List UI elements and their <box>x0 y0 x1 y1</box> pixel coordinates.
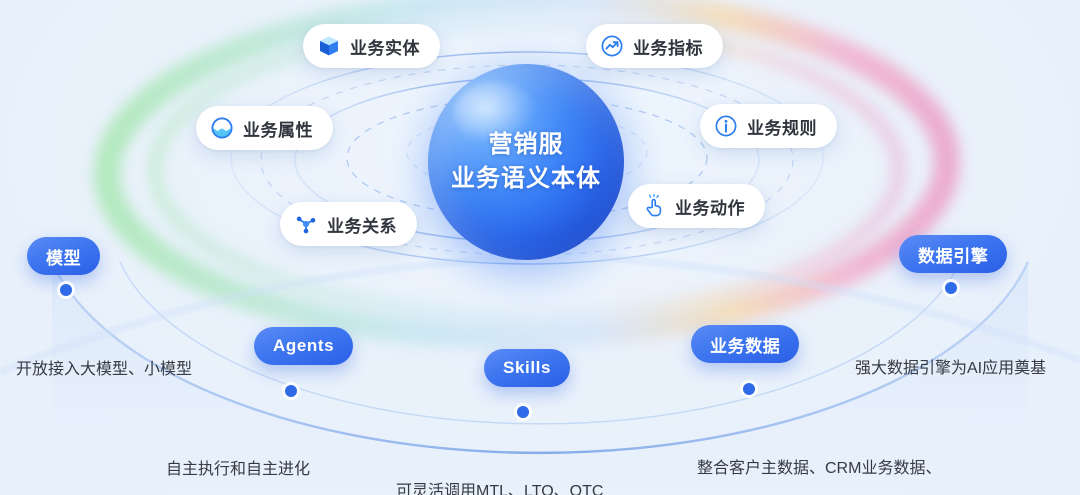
connector-dot-agents <box>285 385 297 397</box>
core-sphere: 营销服 业务语义本体 <box>428 64 624 260</box>
info-icon <box>714 114 738 138</box>
core-title-line2: 业务语义本体 <box>451 162 601 196</box>
chip-business-entity[interactable]: 业务实体 <box>303 24 440 68</box>
caption-line-1: 可灵活调用MTL、LTO、OTC <box>396 478 603 495</box>
chip-business-relation[interactable]: 业务关系 <box>280 202 417 246</box>
connector-dot-data-engine <box>945 282 957 294</box>
connector-dot-model <box>60 284 72 296</box>
caption-line-1: 开放接入大模型、小模型 <box>16 356 192 384</box>
capability-pill-data-engine[interactable]: 数据引擎 <box>899 235 1007 273</box>
chip-label: 业务指标 <box>633 34 703 59</box>
caption-line-1: 整合客户主数据、CRM业务数据、 <box>697 455 941 483</box>
caption-line-1: 自主执行和自主进化 <box>166 456 310 484</box>
attribute-circle-icon <box>210 116 234 140</box>
click-hand-icon <box>642 194 666 218</box>
infographic-canvas: 营销服 业务语义本体 业务实体 业务指标 业务属性 <box>0 0 1080 495</box>
chip-label: 业务属性 <box>243 116 313 141</box>
chip-business-metric[interactable]: 业务指标 <box>586 24 723 68</box>
core-title-line1: 营销服 <box>489 128 564 162</box>
capability-caption-agents: 自主执行和自主进化 的营销服Agents <box>166 400 310 495</box>
chip-business-action[interactable]: 业务动作 <box>628 184 765 228</box>
connector-dot-business-data <box>743 383 755 395</box>
chip-business-attribute[interactable]: 业务属性 <box>196 106 333 150</box>
capability-pill-model[interactable]: 模型 <box>27 237 100 275</box>
chip-business-rule[interactable]: 业务规则 <box>700 104 837 148</box>
capability-pill-business-data[interactable]: 业务数据 <box>691 325 799 363</box>
capability-caption-skills: 可灵活调用MTL、LTO、OTC 场景的丰富Skills <box>396 422 603 495</box>
chip-label: 业务实体 <box>350 34 420 59</box>
connector-dot-skills <box>517 406 529 418</box>
cube-icon <box>317 34 341 58</box>
chip-label: 业务动作 <box>675 194 745 219</box>
node-graph-icon <box>294 212 318 236</box>
caption-line-1: 强大数据引擎为AI应用奠基 <box>855 355 1046 383</box>
trend-chart-icon <box>600 34 624 58</box>
capability-caption-data-engine: 强大数据引擎为AI应用奠基 <box>855 299 1046 439</box>
capability-pill-agents[interactable]: Agents <box>254 327 353 365</box>
chip-label: 业务规则 <box>747 114 817 139</box>
capability-pill-skills[interactable]: Skills <box>484 349 570 387</box>
chip-label: 业务关系 <box>327 212 397 237</box>
